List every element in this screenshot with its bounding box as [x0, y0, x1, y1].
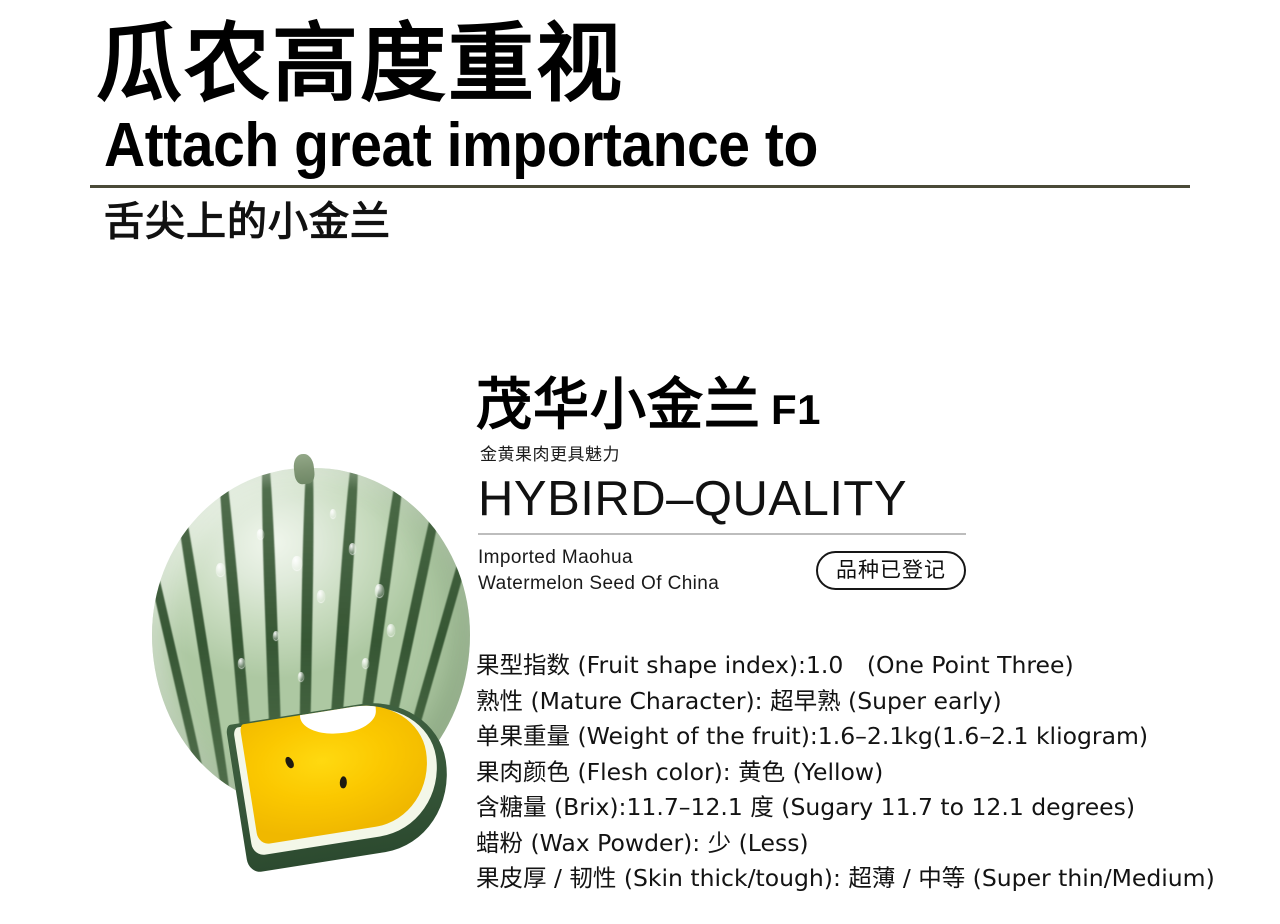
poster-page: 瓜农高度重视 Attach great importance to 舌尖上的小金… [0, 0, 1280, 924]
product-info-panel: 茂华小金兰 F1 金黄果肉更具魅力 HYBIRD–QUALITY Importe… [476, 376, 1266, 596]
product-title-code: F1 [771, 386, 821, 434]
product-title-row: 茂华小金兰 F1 [476, 376, 1266, 436]
specification-list: 果型指数 (Fruit shape index):1.0 (One Point … [476, 648, 1276, 897]
product-tagline: 金黄果肉更具魅力 [480, 440, 1266, 465]
spec-wax-powder: 蜡粉 (Wax Powder): 少 (Less) [476, 826, 1276, 862]
header-divider [90, 185, 1190, 188]
origin-and-badge-row: Imported Maohua Watermelon Seed Of China… [476, 545, 966, 595]
spec-fruit-weight: 单果重量 (Weight of the fruit):1.6–2.1kg(1.6… [476, 719, 1276, 755]
spec-brix: 含糖量 (Brix):11.7–12.1 度 (Sugary 11.7 to 1… [476, 790, 1276, 826]
headline-english: Attach great importance to [104, 115, 1122, 177]
melon-wedge [236, 708, 448, 858]
spec-mature-character: 熟性 (Mature Character): 超早熟 (Super early) [476, 684, 1276, 720]
product-title-chinese: 茂华小金兰 [476, 376, 761, 436]
registered-variety-badge: 品种已登记 [816, 551, 966, 590]
melon-seed [340, 776, 348, 788]
origin-line-2: Watermelon Seed Of China [478, 571, 719, 596]
product-hybrid-quality-heading: HYBIRD–QUALITY [478, 471, 1266, 527]
melon-seed [283, 756, 295, 770]
header-block: 瓜农高度重视 Attach great importance to 舌尖上的小金… [90, 18, 1210, 246]
origin-text: Imported Maohua Watermelon Seed Of China [478, 545, 719, 595]
spec-fruit-shape-index: 果型指数 (Fruit shape index):1.0 (One Point … [476, 648, 1276, 684]
watermelon-photo [148, 436, 508, 851]
spec-flesh-color: 果肉颜色 (Flesh color): 黄色 (Yellow) [476, 755, 1276, 791]
subheadline-chinese: 舌尖上的小金兰 [104, 198, 1210, 246]
panel-divider [478, 533, 966, 535]
origin-line-1: Imported Maohua [478, 545, 719, 570]
headline-chinese: 瓜农高度重视 [96, 18, 1210, 111]
watermelon-illustration [148, 436, 508, 851]
spec-skin-thickness: 果皮厚 / 韧性 (Skin thick/tough): 超薄 / 中等 (Su… [476, 861, 1276, 897]
melon-stem [292, 453, 315, 485]
